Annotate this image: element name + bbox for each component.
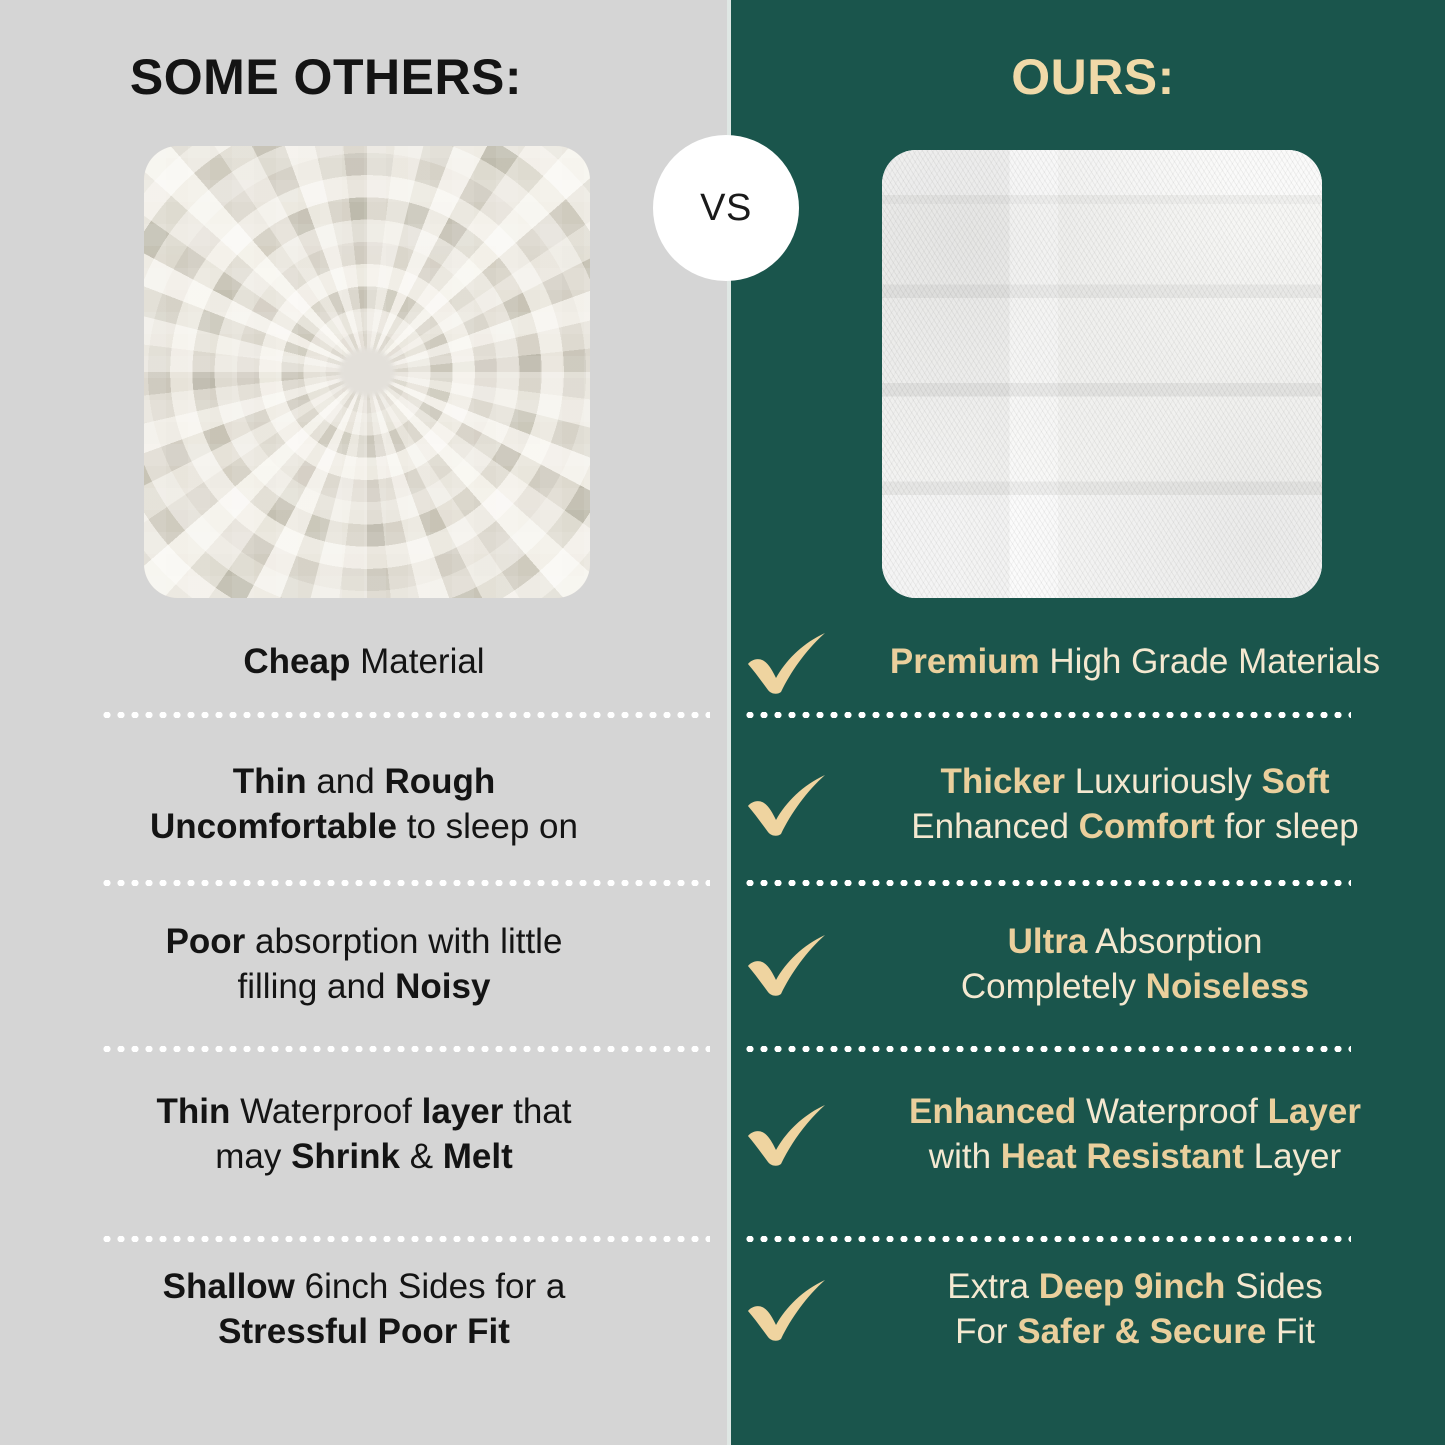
row-separator xyxy=(743,712,1351,718)
feature-text: Thicker Luxuriously SoftEnhanced Comfort… xyxy=(833,760,1445,850)
feature-row: Cheap Material xyxy=(0,620,727,705)
checkmark-icon xyxy=(741,1102,833,1168)
vs-label: VS xyxy=(700,187,752,230)
feature-text: Ultra AbsorptionCompletely Noiseless xyxy=(833,920,1445,1010)
ours-header: OURS: xyxy=(731,52,1445,102)
comparison-board: SOME OTHERS: Cheap MaterialThin and Roug… xyxy=(0,0,1445,1445)
row-separator xyxy=(743,1236,1351,1242)
ours-column: OURS: Premium High Grade Materials Thick… xyxy=(731,0,1445,1445)
vs-badge: VS xyxy=(653,135,799,281)
ours-product-image xyxy=(882,150,1322,598)
row-separator xyxy=(743,1046,1351,1052)
row-separator xyxy=(100,880,710,886)
feature-row: Thin Waterproof layer thatmay Shrink & M… xyxy=(0,1075,727,1195)
row-separator xyxy=(100,1046,710,1052)
feature-row: Premium High Grade Materials xyxy=(731,620,1445,705)
checkmark-icon xyxy=(741,772,833,838)
feature-row: Thicker Luxuriously SoftEnhanced Comfort… xyxy=(731,745,1445,865)
competitor-column: SOME OTHERS: Cheap MaterialThin and Roug… xyxy=(0,0,727,1445)
feature-row: Poor absorption with littlefilling and N… xyxy=(0,905,727,1025)
checkmark-icon xyxy=(741,932,833,998)
feature-text: Enhanced Waterproof Layerwith Heat Resis… xyxy=(833,1090,1445,1180)
checkmark-icon xyxy=(741,1277,833,1343)
competitor-header: SOME OTHERS: xyxy=(0,52,727,102)
competitor-product-image xyxy=(144,146,590,598)
feature-row: Extra Deep 9inch SidesFor Safer & Secure… xyxy=(731,1250,1445,1370)
checkmark-icon xyxy=(741,630,833,696)
feature-row: Enhanced Waterproof Layerwith Heat Resis… xyxy=(731,1075,1445,1195)
row-separator xyxy=(100,712,710,718)
feature-text: Thin Waterproof layer thatmay Shrink & M… xyxy=(44,1090,684,1180)
feature-text: Poor absorption with littlefilling and N… xyxy=(44,920,684,1010)
feature-text: Extra Deep 9inch SidesFor Safer & Secure… xyxy=(833,1265,1445,1355)
feature-row: Ultra AbsorptionCompletely Noiseless xyxy=(731,905,1445,1025)
mosaic-center-highlight xyxy=(339,348,395,396)
feature-row: Shallow 6inch Sides for aStressful Poor … xyxy=(0,1250,727,1370)
feature-text: Cheap Material xyxy=(44,640,684,685)
feature-text: Thin and RoughUncomfortable to sleep on xyxy=(44,760,684,850)
feature-text: Shallow 6inch Sides for aStressful Poor … xyxy=(44,1265,684,1355)
row-separator xyxy=(743,880,1351,886)
feature-row: Thin and RoughUncomfortable to sleep on xyxy=(0,745,727,865)
row-separator xyxy=(100,1236,710,1242)
feature-text: Premium High Grade Materials xyxy=(833,640,1445,685)
fabric-shading xyxy=(882,150,1322,598)
